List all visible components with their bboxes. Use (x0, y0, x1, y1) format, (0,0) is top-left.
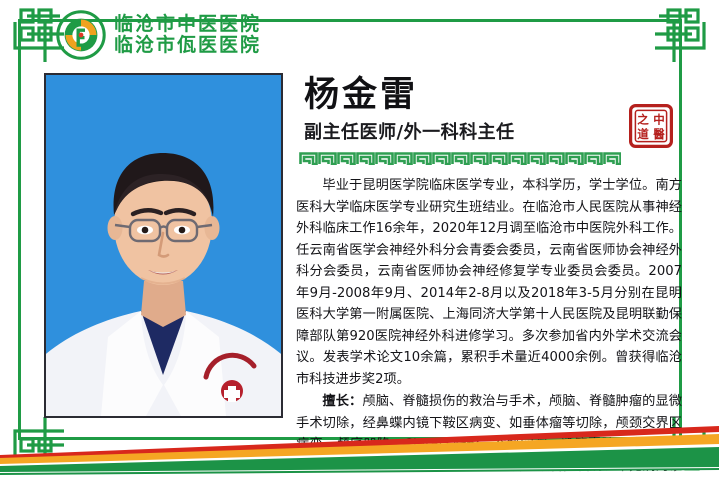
hospital-branding: 临沧市中医医院 临沧市佤医医院 (56, 10, 261, 60)
doctor-title: 副主任医师/外一科科主任 (304, 124, 515, 142)
bio-specialties-label: 擅长： (322, 394, 362, 409)
greek-key-corner-ornament-top-right (651, 6, 713, 68)
chinese-medicine-seal-icon: 中 之 醫 道 (629, 104, 673, 148)
svg-text:醫: 醫 (653, 127, 665, 141)
doctor-profile-poster: 临沧市中医医院 临沧市佤医医院 (0, 0, 719, 479)
doctor-name: 杨金雷 (304, 78, 418, 113)
svg-text:道: 道 (637, 127, 649, 141)
hospital-circular-emblem-icon (56, 10, 106, 60)
bio-paragraph-education: 毕业于昆明医学院临床医学专业，本科学历，学士学位。南方医科大学临床医学专业研究生… (296, 175, 682, 390)
doctor-portrait-photo-icon (46, 75, 281, 416)
hospital-name-stack: 临沧市中医医院 临沧市佤医医院 (114, 14, 261, 55)
svg-text:中: 中 (653, 113, 665, 127)
tricolor-swoosh-ribbon-icon (0, 424, 719, 479)
frame-border-left (18, 19, 21, 440)
doctor-portrait-frame (44, 73, 283, 418)
hospital-name-line1: 临沧市中医医院 (114, 14, 261, 35)
svg-text:之: 之 (637, 113, 649, 127)
greek-key-meander-divider-icon (299, 152, 621, 165)
hospital-name-line2: 临沧市佤医医院 (114, 35, 261, 56)
